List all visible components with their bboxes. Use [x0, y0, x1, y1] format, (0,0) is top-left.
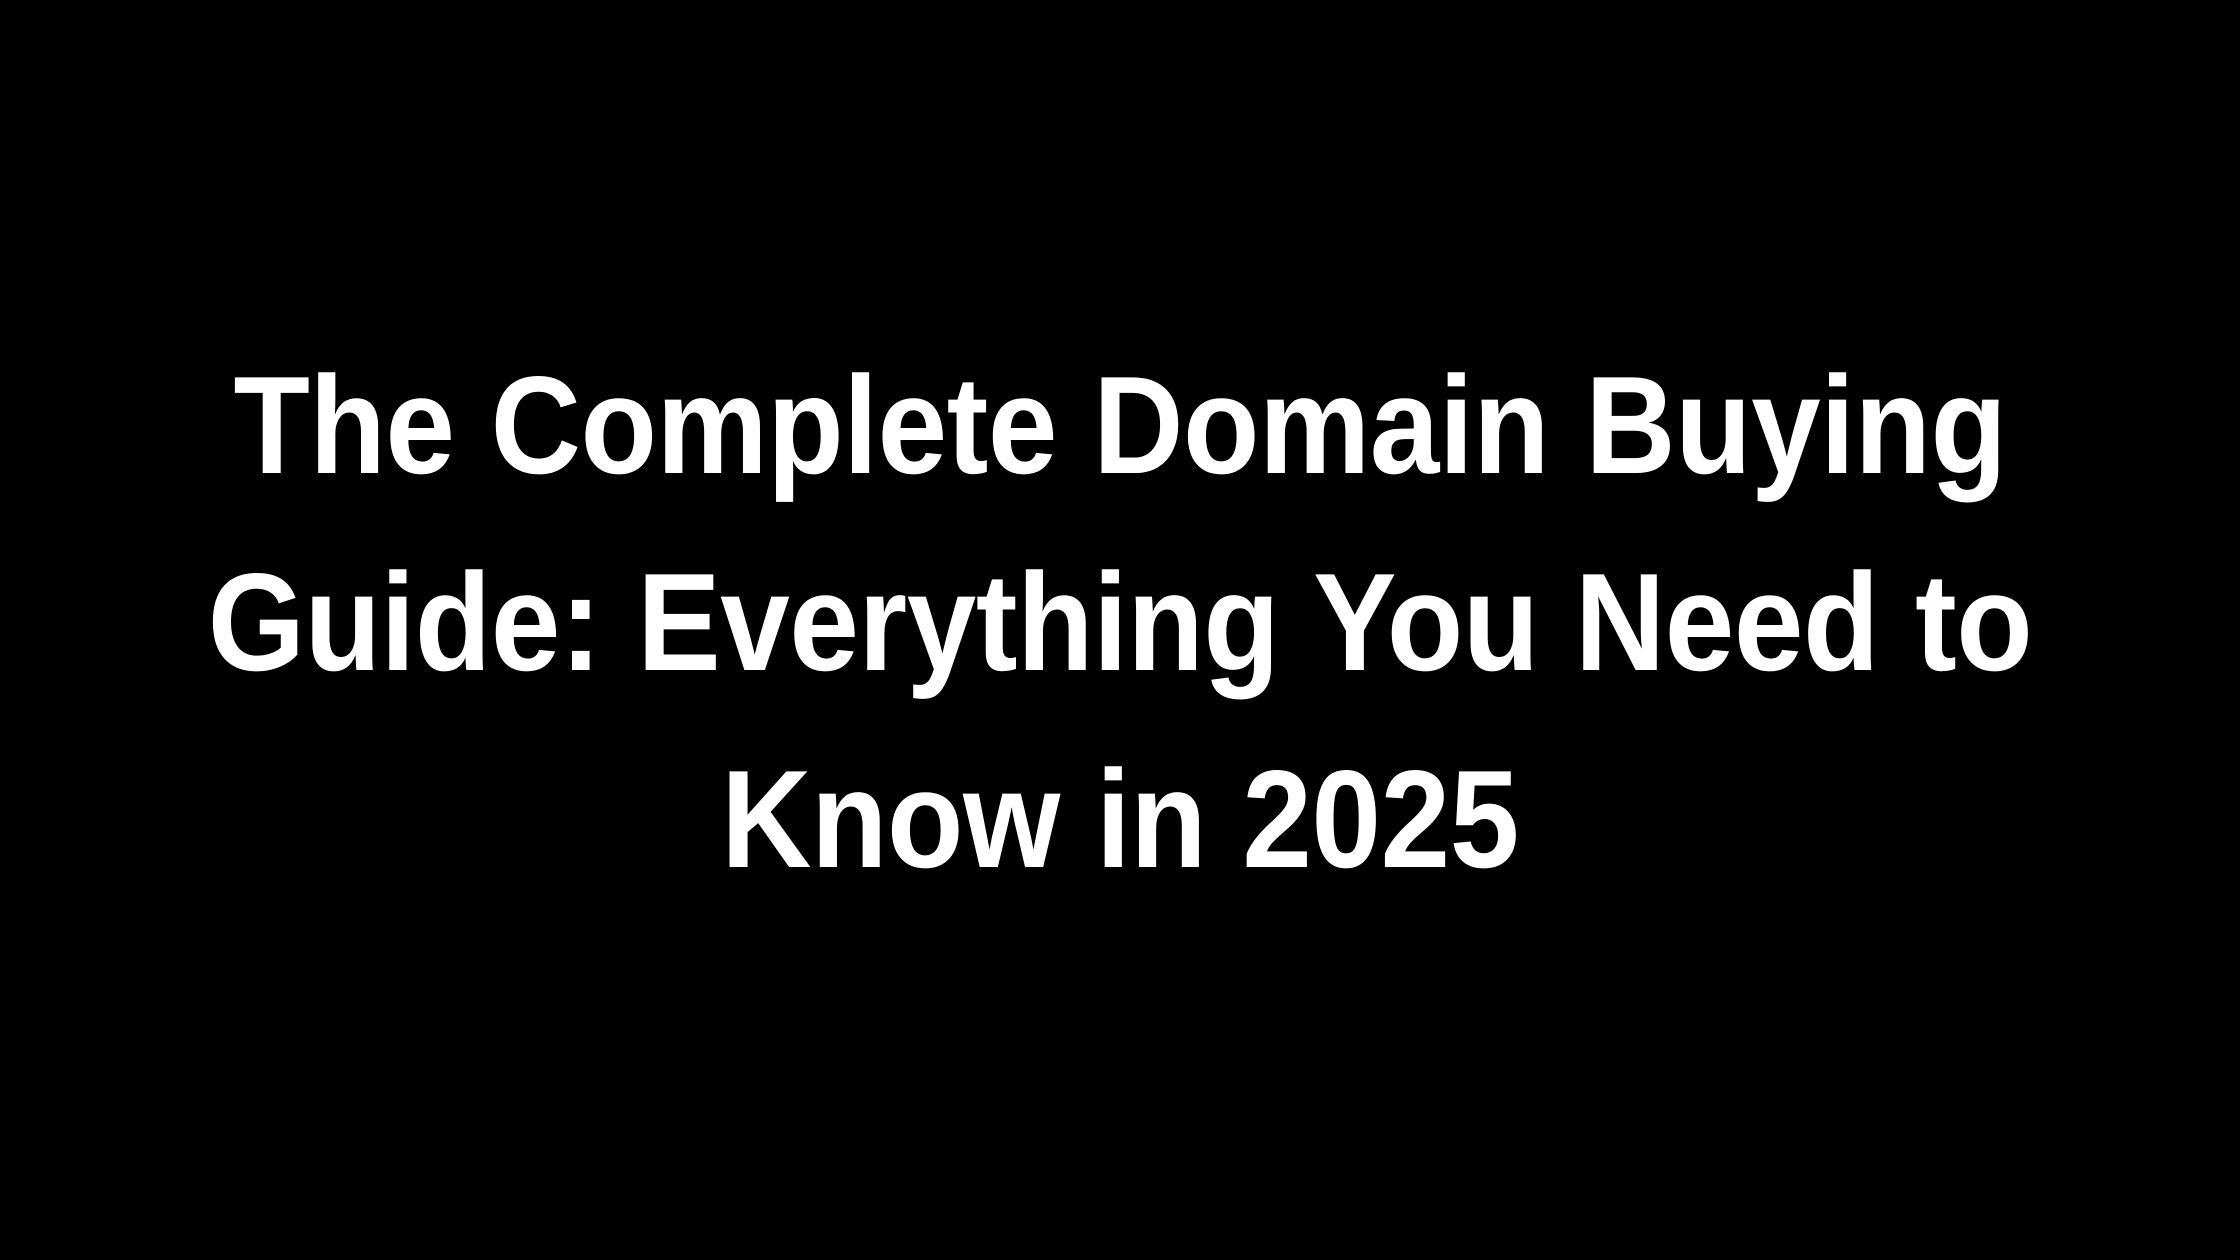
title-block: The Complete Domain Buying Guide: Everyt… — [0, 327, 2240, 918]
title-slide: The Complete Domain Buying Guide: Everyt… — [0, 0, 2240, 1260]
page-title: The Complete Domain Buying Guide: Everyt… — [166, 327, 2074, 918]
